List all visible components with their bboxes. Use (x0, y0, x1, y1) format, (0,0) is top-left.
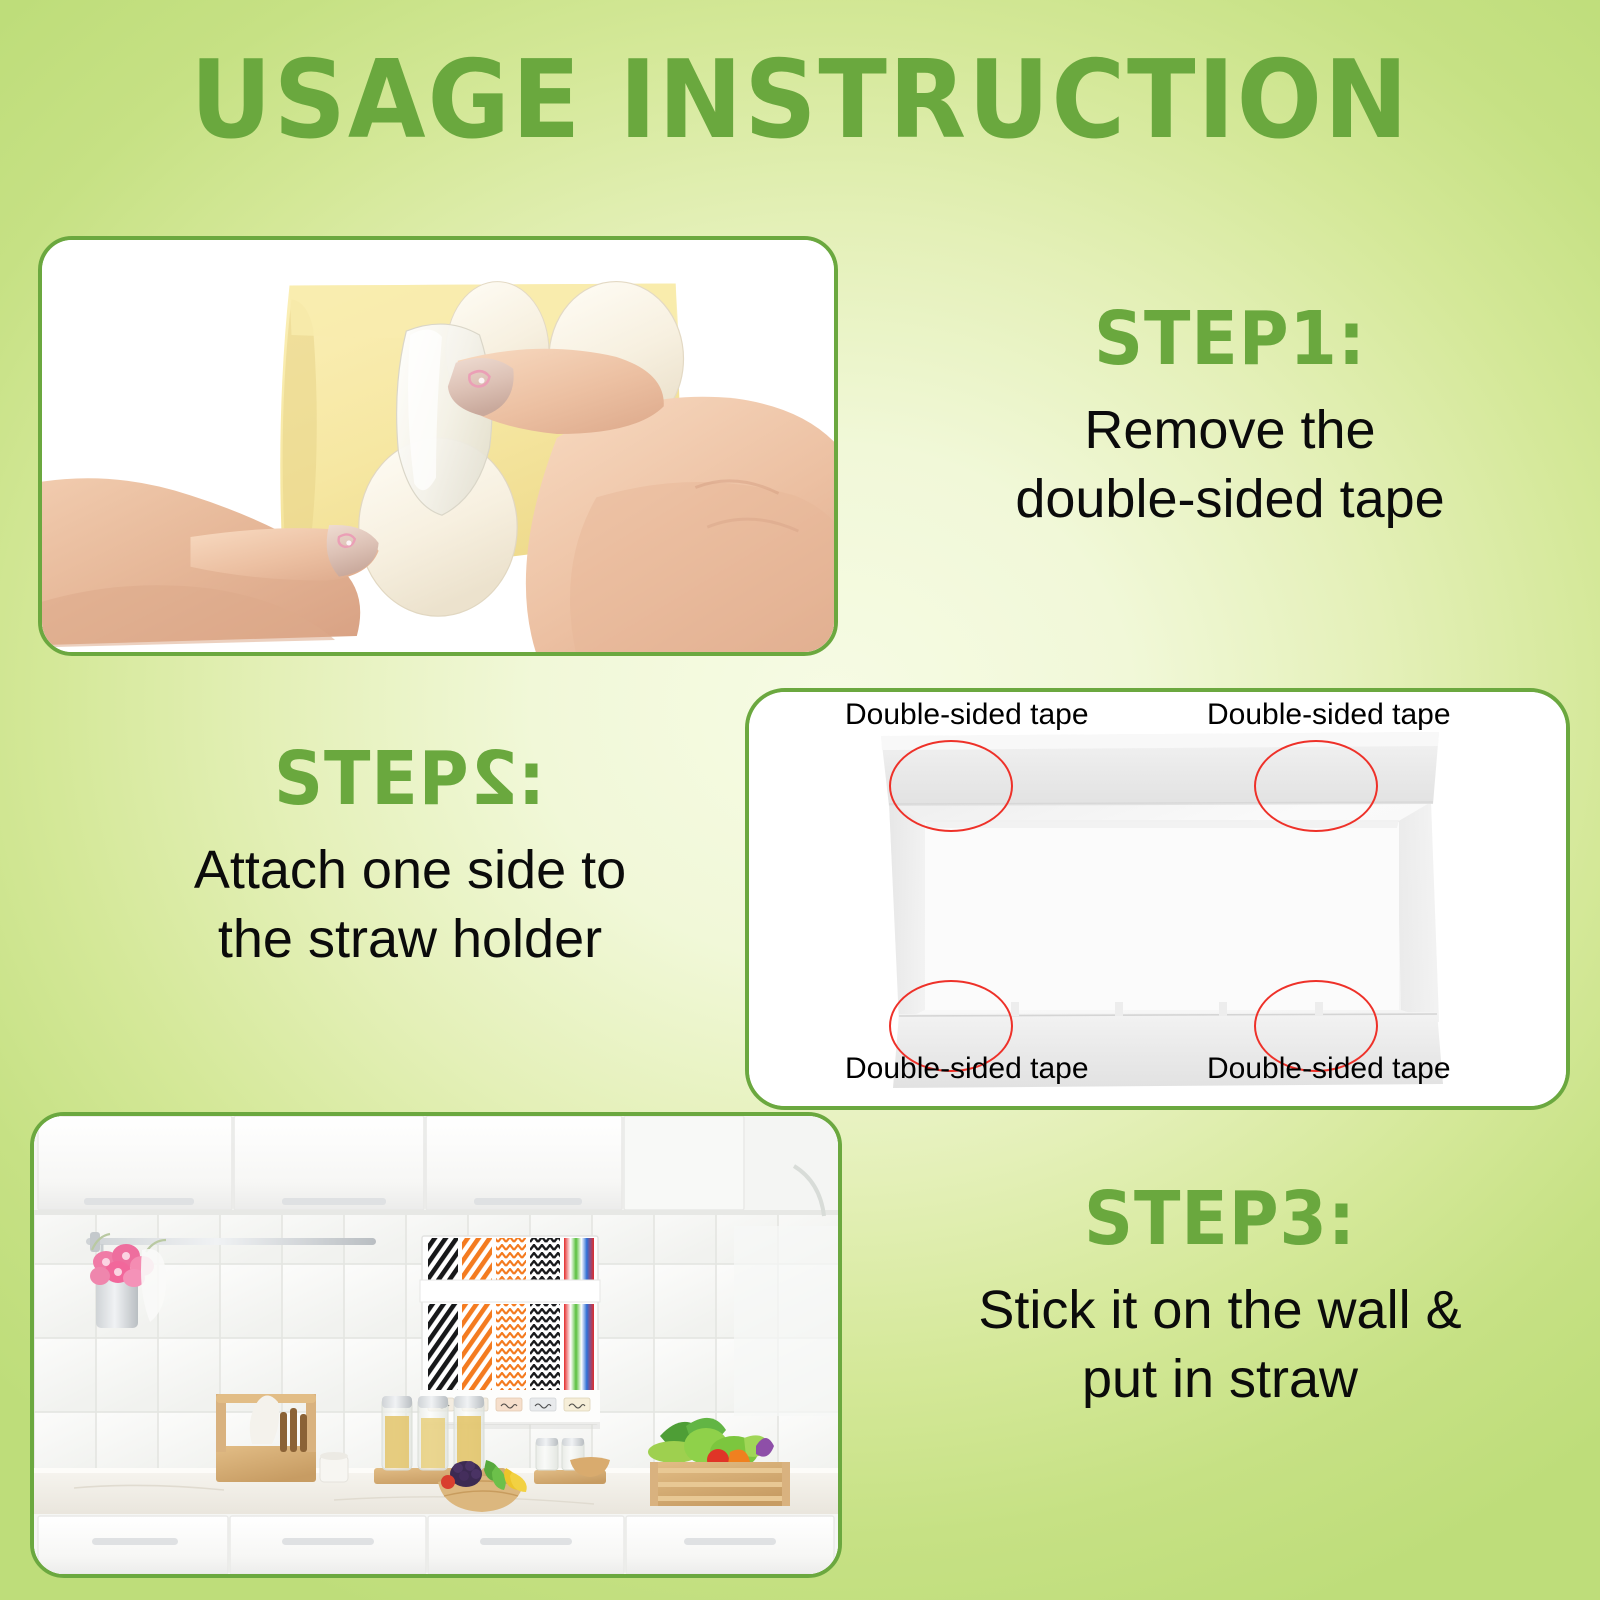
step-2-heading-number: 2 (470, 740, 518, 820)
kitchen-scene-illustration (34, 1116, 838, 1574)
step-3-heading: STEP3: (898, 1180, 1542, 1260)
step-3-heading-prefix: STEP (1084, 1176, 1280, 1262)
tape-label-top-left: Double-sided tape (845, 698, 1089, 732)
page-title: USAGE INSTRUCTION (56, 44, 1544, 157)
step-2-body-line-1: Attach one side to (100, 836, 720, 905)
tape-callout-ellipse-top-right (1254, 740, 1378, 832)
tape-label-bottom-right: Double-sided tape (1207, 1052, 1451, 1086)
straw-holder-back-illustration (749, 692, 1566, 1106)
step-2-body: Attach one side to the straw holder (100, 836, 720, 974)
step-1-body-line-1: Remove the (880, 396, 1580, 465)
step-1-heading-number: 1 (1290, 296, 1338, 382)
step-1-body-line-2: double-sided tape (880, 465, 1580, 534)
step-2-heading: STEP2: (125, 740, 695, 820)
step-3-body: Stick it on the wall & put in straw (870, 1276, 1570, 1414)
step-2-body-line-2: the straw holder (100, 905, 720, 974)
step-3-text-block: STEP3: Stick it on the wall & put in str… (870, 1180, 1570, 1414)
tape-callout-ellipse-top-left (889, 740, 1013, 832)
step-1-body: Remove the double-sided tape (880, 396, 1580, 534)
step-2-heading-prefix: STEP (274, 736, 470, 822)
step-1-image-panel (38, 236, 838, 656)
step-2-heading-suffix: : (518, 736, 546, 822)
step-1-text-block: STEP1: Remove the double-sided tape (880, 300, 1580, 534)
step-3-heading-number: 3 (1280, 1176, 1328, 1262)
tape-label-bottom-left: Double-sided tape (845, 1052, 1089, 1086)
hands-peeling-tape-illustration (42, 240, 834, 656)
step-3-body-line-1: Stick it on the wall & (870, 1276, 1570, 1345)
step-2-diagram-panel: Double-sided tape Double-sided tape Doub… (745, 688, 1570, 1110)
step-3-image-panel (30, 1112, 842, 1578)
tape-label-top-right: Double-sided tape (1207, 698, 1451, 732)
step-1-heading: STEP1: (908, 300, 1552, 380)
step-1-heading-suffix: : (1338, 296, 1366, 382)
step-1-heading-prefix: STEP (1094, 296, 1290, 382)
step-3-body-line-2: put in straw (870, 1345, 1570, 1414)
step-2-text-block: STEP2: Attach one side to the straw hold… (100, 740, 720, 974)
step-3-heading-suffix: : (1328, 1176, 1356, 1262)
